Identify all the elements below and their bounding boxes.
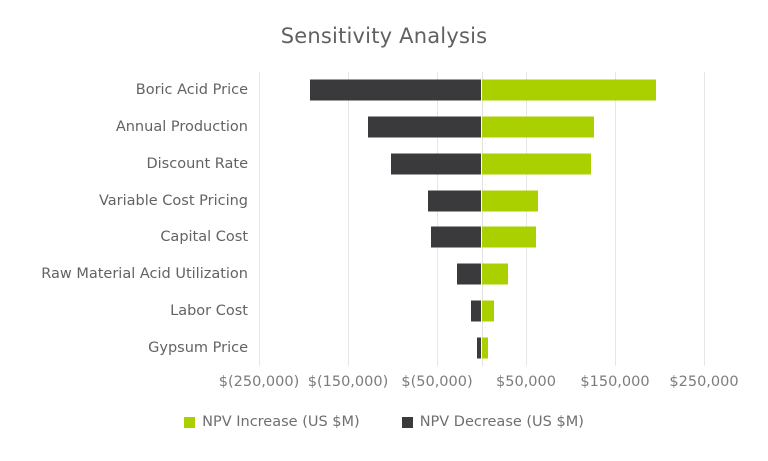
bar-npv-decrease xyxy=(431,227,482,248)
bar-npv-decrease xyxy=(428,190,481,211)
category-label: Annual Production xyxy=(116,119,248,135)
category-label: Discount Rate xyxy=(146,156,248,172)
bar-row: Boric Acid Price xyxy=(0,72,768,109)
chart-legend: NPV Increase (US $M)NPV Decrease (US $M) xyxy=(0,414,768,430)
bar-row: Raw Material Acid Utilization xyxy=(0,256,768,293)
bar-row: Labor Cost xyxy=(0,293,768,330)
chart-title: Sensitivity Analysis xyxy=(0,24,768,48)
category-label: Variable Cost Pricing xyxy=(99,193,248,209)
bar-npv-decrease xyxy=(310,80,482,101)
x-axis-tick-label: $50,000 xyxy=(496,374,556,390)
x-axis-tick-label: $(150,000) xyxy=(308,374,389,390)
category-label: Gypsum Price xyxy=(148,340,248,356)
legend-item[interactable]: NPV Decrease (US $M) xyxy=(402,414,584,430)
bar-npv-increase xyxy=(482,227,536,248)
bar-npv-decrease xyxy=(457,264,482,285)
bar-npv-increase xyxy=(482,153,591,174)
bar-npv-increase xyxy=(482,190,539,211)
bar-npv-increase xyxy=(482,264,509,285)
bar-npv-decrease xyxy=(368,117,481,138)
x-axis: $(250,000)$(150,000)$(50,000)$50,000$150… xyxy=(0,374,768,396)
bar-npv-increase xyxy=(482,300,494,321)
legend-label: NPV Increase (US $M) xyxy=(202,414,360,430)
x-axis-tick-label: $(50,000) xyxy=(401,374,472,390)
legend-swatch-icon xyxy=(184,417,195,428)
bar-npv-decrease xyxy=(391,153,482,174)
legend-swatch-icon xyxy=(402,417,413,428)
bar-npv-increase xyxy=(482,337,488,358)
category-label: Labor Cost xyxy=(170,303,248,319)
x-axis-tick-label: $250,000 xyxy=(669,374,738,390)
bar-npv-increase xyxy=(482,80,656,101)
x-axis-tick-label: $150,000 xyxy=(580,374,649,390)
bar-row: Capital Cost xyxy=(0,219,768,256)
sensitivity-analysis-chart: Sensitivity Analysis Boric Acid PriceAnn… xyxy=(0,0,768,461)
legend-label: NPV Decrease (US $M) xyxy=(420,414,584,430)
category-label: Capital Cost xyxy=(160,229,248,245)
legend-item[interactable]: NPV Increase (US $M) xyxy=(184,414,360,430)
category-label: Boric Acid Price xyxy=(136,82,248,98)
bar-row: Variable Cost Pricing xyxy=(0,182,768,219)
bar-rows: Boric Acid PriceAnnual ProductionDiscoun… xyxy=(0,72,768,366)
bar-row: Discount Rate xyxy=(0,146,768,183)
bar-row: Gypsum Price xyxy=(0,329,768,366)
bar-npv-decrease xyxy=(471,300,482,321)
bar-row: Annual Production xyxy=(0,109,768,146)
category-label: Raw Material Acid Utilization xyxy=(41,266,248,282)
bar-npv-increase xyxy=(482,117,594,138)
x-axis-tick-label: $(250,000) xyxy=(219,374,300,390)
